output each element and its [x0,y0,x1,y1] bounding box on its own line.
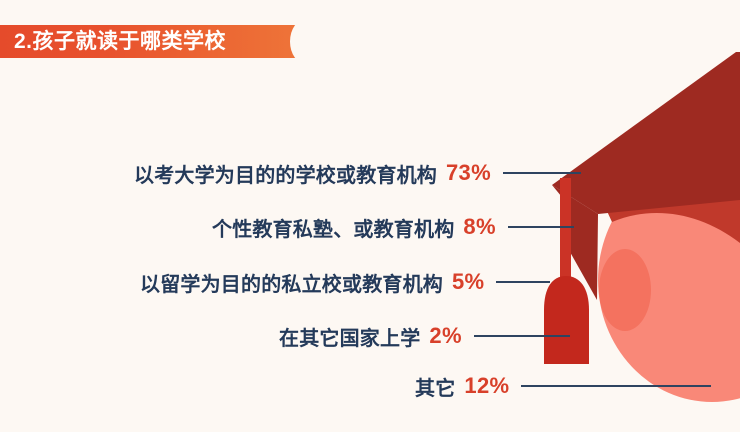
mortarboard-band [600,196,740,243]
leader-line [496,281,550,283]
stat-list: 以考大学为目的的学校或教育机构 73% 个性教育私塾、或教育机构 8% 以留学为… [0,0,740,432]
stat-label: 其它 [415,372,455,401]
leader-line [503,172,581,174]
stat-value: 5% [452,269,484,295]
mortarboard-top [552,52,740,214]
graduate-ear [599,249,651,331]
stat-row[interactable]: 以留学为目的的私立校或教育机构 5% [140,267,550,297]
infographic-canvas: 2.孩子就读于哪类学校 以考大学为目的的学校或教育机构 73% 个性教育私塾、或… [0,0,740,432]
leader-line [474,335,570,337]
stat-value: 2% [429,323,461,349]
stat-label: 以留学为目的的私立校或教育机构 [140,268,443,297]
leader-line [508,226,574,228]
stat-row[interactable]: 以考大学为目的的学校或教育机构 73% [134,158,581,188]
stat-row[interactable]: 在其它国家上学 2% [279,321,570,351]
stat-row[interactable]: 个性教育私塾、或教育机构 8% [212,212,574,242]
stat-label: 个性教育私塾、或教育机构 [212,213,454,242]
mortarboard-underside [552,185,598,300]
stat-label: 以考大学为目的的学校或教育机构 [134,159,437,188]
stat-label: 在其它国家上学 [279,322,420,351]
stat-value: 73% [446,160,491,186]
banner-notch [290,19,322,64]
stat-row[interactable]: 其它 12% [415,371,711,401]
stat-value: 12% [464,373,509,399]
section-header-banner: 2.孩子就读于哪类学校 [0,25,306,58]
stat-value: 8% [463,214,495,240]
page-title: 2.孩子就读于哪类学校 [14,25,226,58]
leader-line [521,385,711,387]
graduate-head [598,158,740,402]
